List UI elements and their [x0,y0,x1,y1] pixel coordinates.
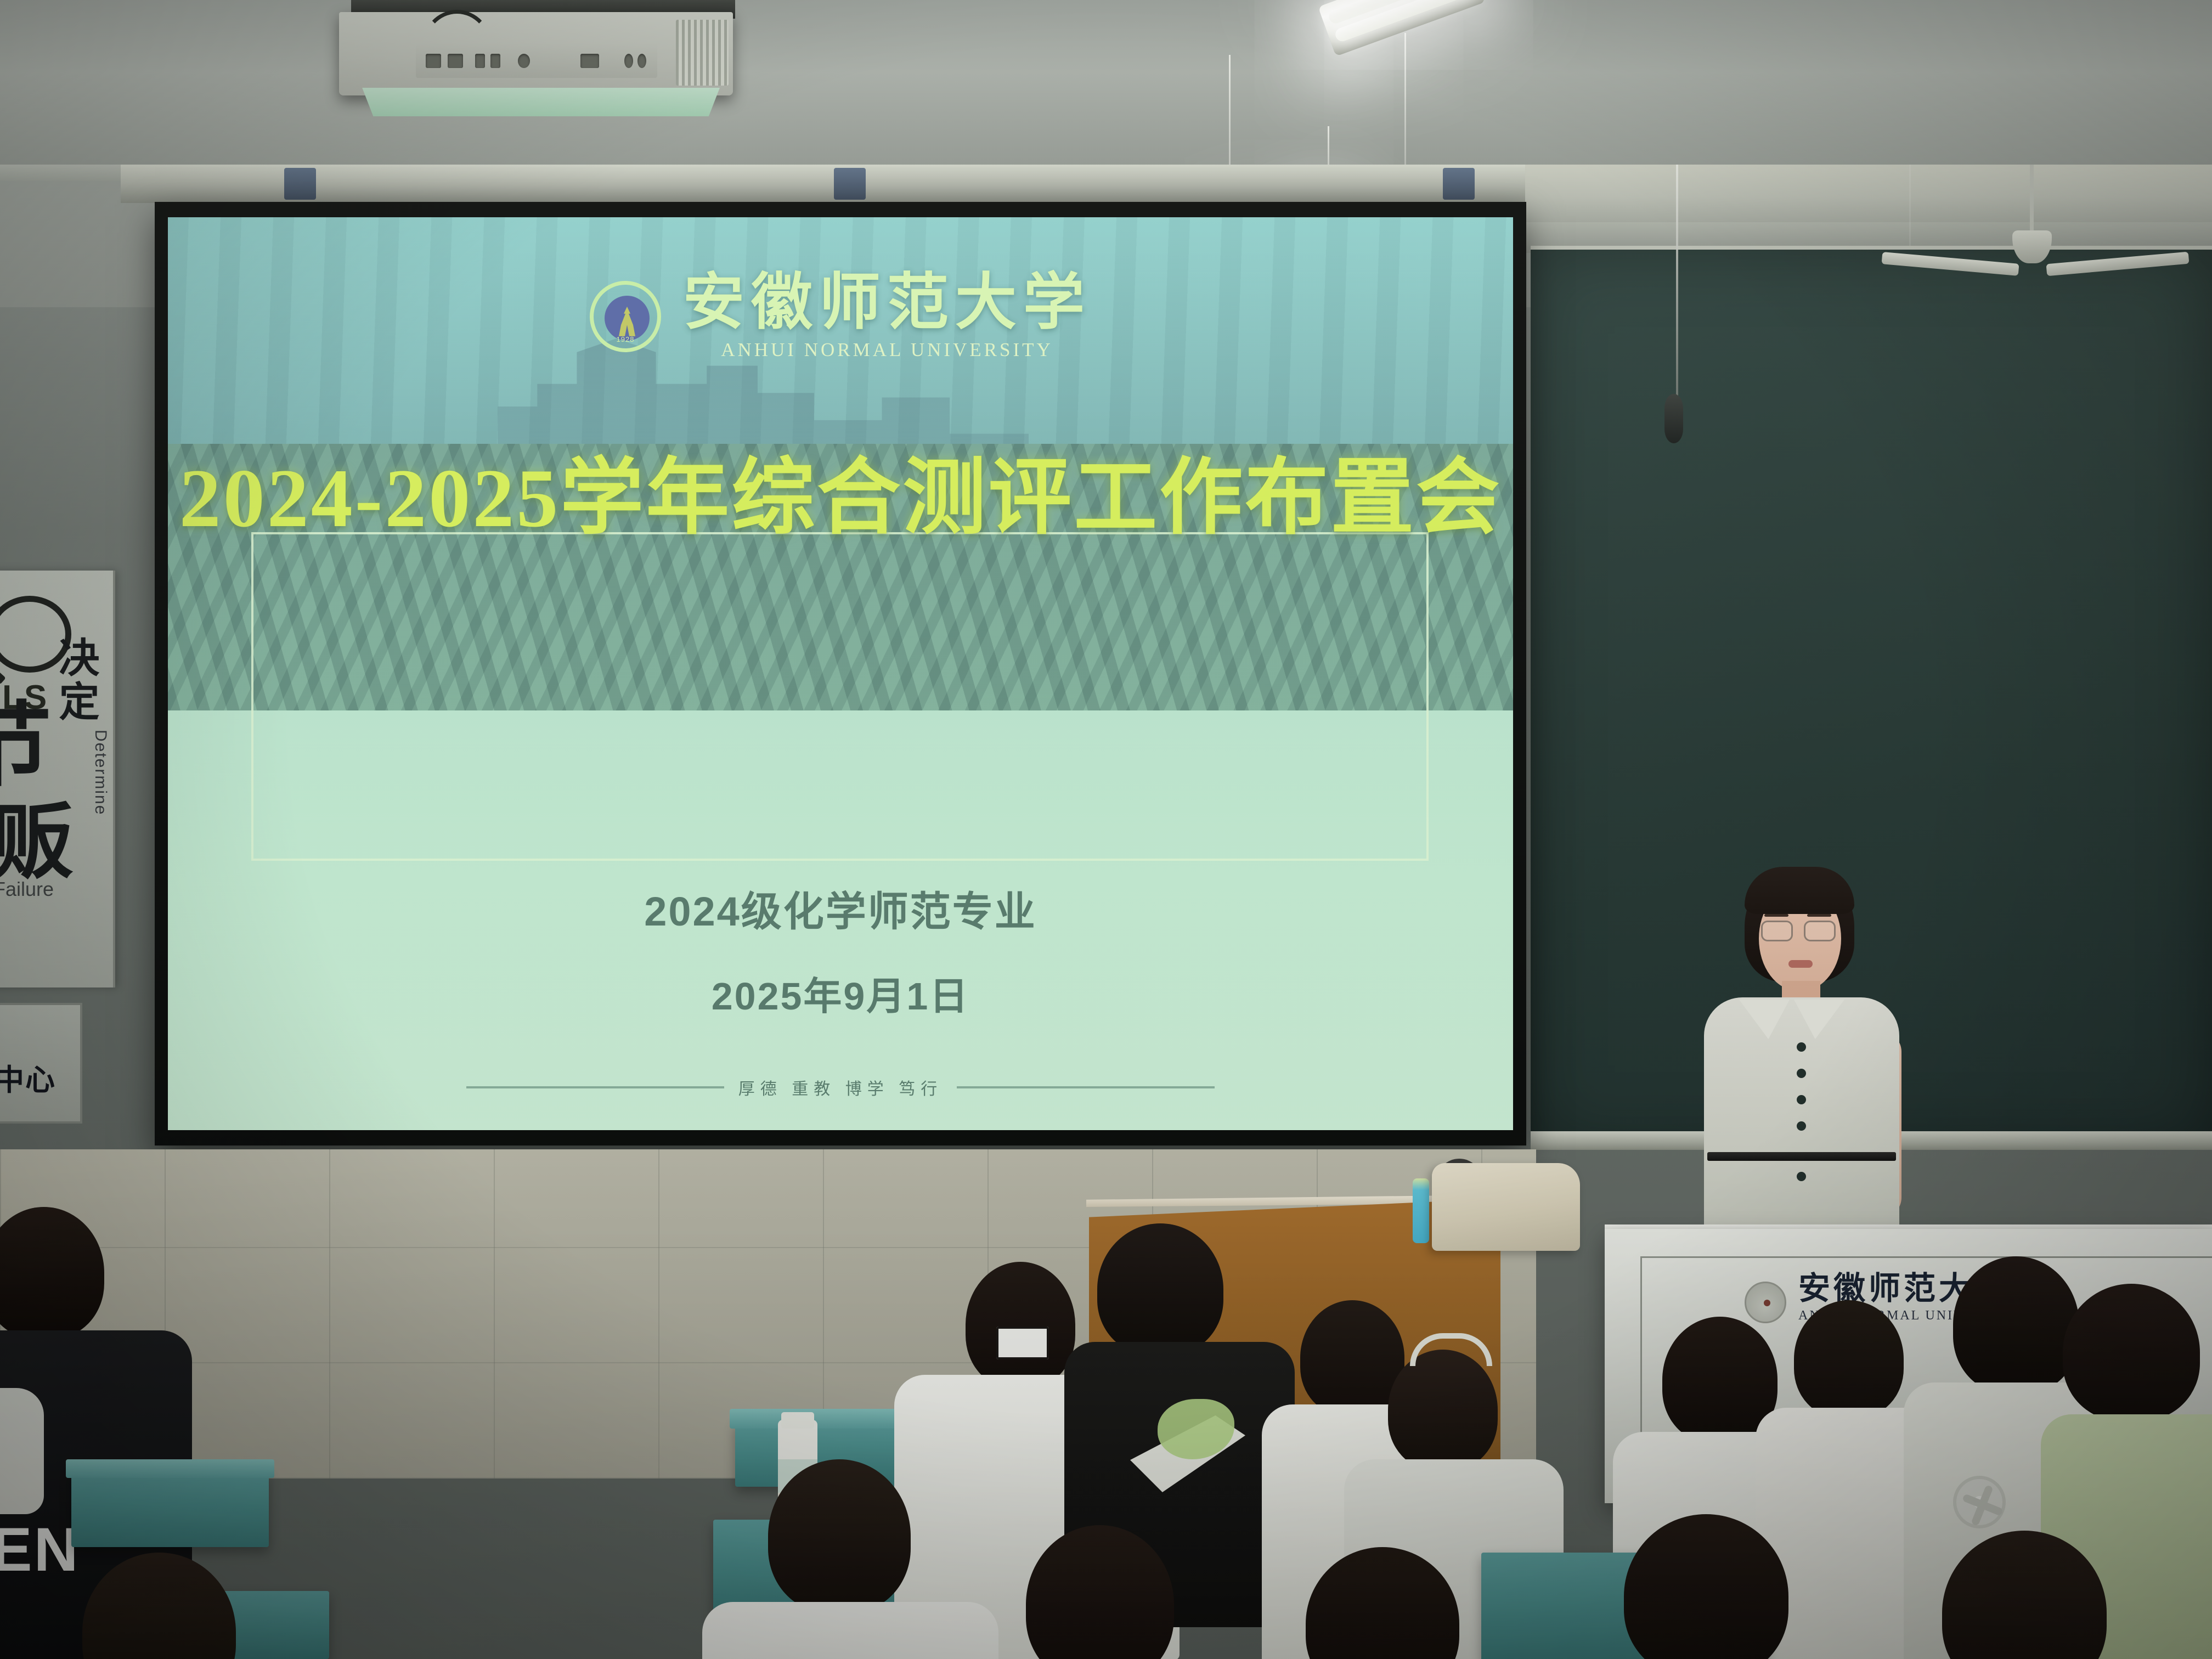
wall-seam [1909,165,1911,252]
student-body [702,1602,998,1659]
presenter-mouth [1788,960,1813,968]
student-head [1388,1350,1498,1470]
wall-sign: 理中心 [0,1003,82,1124]
seal-year: 1928 [594,335,657,343]
slide-motto-row: 厚德 重教 博学 笃行 [168,1075,1513,1099]
slide-title-box [251,532,1429,861]
hair-clip [996,1327,1049,1359]
tote-bag [1432,1163,1580,1251]
handheld-fan [1953,1476,2006,1528]
eyeglasses-icon [1761,921,1793,941]
microphone-cord [1676,165,1678,400]
screen-mount-clip [834,168,866,200]
slide-subtitle-date: 2025年9月1日 [168,966,1513,1021]
podium-seal-icon [1745,1282,1786,1323]
student-head [966,1262,1075,1388]
projector [339,12,733,95]
poster-en-vertical: Determine [91,730,110,815]
shirt-graphic [0,1388,44,1514]
presenter-belt [1707,1152,1896,1161]
university-name-en: ANHUI NORMAL UNIVERSITY [721,339,1053,361]
poster-cn-vertical: 决定 [47,636,105,724]
shirt-text: REN [0,1514,80,1585]
screen-mount-clip [1443,168,1475,200]
student-desk-top [66,1459,274,1478]
slide-motto: 厚德 重教 博学 笃行 [738,1075,943,1099]
university-seal-icon: 1928 [590,281,661,352]
slide-title: 2024-2025学年综合测评工作布置会 [168,455,1513,543]
screen-mount-clip [284,168,316,200]
poster-cn-line2: 贩 [0,801,75,883]
student-head [1953,1256,2079,1393]
projector-vent [676,20,729,86]
university-name-cn: 安徽师范大学 [683,272,1091,334]
presenter-hair-front [1745,867,1854,914]
student-head [1794,1300,1904,1418]
water-bottle [1413,1178,1429,1243]
wall-poster-details: AILS 节 贩 Or Failure 决定 Determine [0,571,115,988]
poster-cn-line1: 节 [0,699,54,792]
lecture-hall-photo: 1928 安徽师范大学 ANHUI NORMAL UNIVERSITY 2024… [0,0,2212,1659]
university-names: 安徽师范大学 ANHUI NORMAL UNIVERSITY [683,272,1091,361]
student-head [2063,1284,2200,1421]
screen-casing [121,165,1525,203]
projector-cable [421,10,493,76]
projection-screen-frame: 1928 安徽师范大学 ANHUI NORMAL UNIVERSITY 2024… [155,202,1526,1145]
motto-rule-left [466,1086,724,1088]
presenter [1657,867,1920,1251]
pagoda-icon [613,307,641,336]
student-head [768,1459,911,1613]
poster-en-failure: Failure [0,878,54,901]
student-head [1097,1223,1223,1355]
projector-front-panel [351,88,720,116]
bottle-cap [781,1412,814,1429]
presenter-dress [1704,997,1899,1233]
ceiling-slab [0,0,2212,181]
ceiling-fan-rod [2030,165,2034,236]
eyeglasses-icon [1804,921,1836,941]
hanging-microphone-icon [1664,394,1683,443]
motto-rule-right [957,1086,1215,1088]
slide-subtitle-major: 2024级化学师范专业 [168,879,1513,938]
university-logo-lockup: 1928 安徽师范大学 ANHUI NORMAL UNIVERSITY [168,272,1513,361]
projection-screen: 1928 安徽师范大学 ANHUI NORMAL UNIVERSITY 2024… [168,217,1513,1130]
student-desk [71,1470,269,1547]
wall-sign-text: 理中心 [0,1056,56,1099]
